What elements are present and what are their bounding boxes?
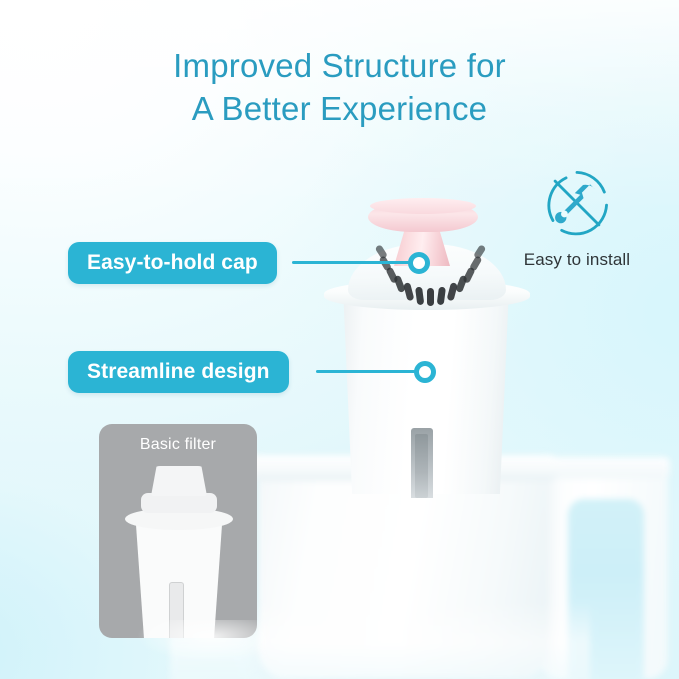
callout-badge-streamline-design[interactable]: Streamline design: [68, 351, 289, 393]
no-tools-wrench-icon: [542, 168, 612, 238]
basic-filter-cap: [151, 466, 207, 496]
basic-filter-collar: [141, 493, 217, 513]
feature-label: Easy to install: [506, 250, 648, 270]
vent-slot: [427, 288, 434, 306]
callout-badge-easy-to-hold-cap[interactable]: Easy-to-hold cap: [68, 242, 277, 284]
callout-leader-line-cap: [292, 261, 414, 264]
inset-bottom-glow: [112, 620, 312, 676]
inset-title: Basic filter: [99, 436, 257, 454]
pitcher-rim-right: [540, 457, 670, 479]
infographic-canvas: Improved Structure for A Better Experien…: [0, 0, 679, 679]
page-title: Improved Structure for A Better Experien…: [0, 44, 679, 130]
callout-label: Streamline design: [87, 360, 270, 384]
vent-slot: [473, 244, 487, 260]
callout-label: Easy-to-hold cap: [87, 251, 258, 275]
basic-filter-graphic: [121, 466, 237, 638]
feature-easy-to-install: Easy to install: [506, 168, 648, 270]
callout-marker-cap: [408, 252, 430, 274]
title-line-2: A Better Experience: [0, 87, 679, 130]
cartridge-slot-inner: [415, 434, 428, 498]
callout-marker-streamline: [414, 361, 436, 383]
basic-filter-inset-panel: Basic filter: [99, 424, 257, 638]
pink-cap-top-disc: [370, 198, 476, 214]
callout-leader-line-streamline: [316, 370, 420, 373]
title-line-1: Improved Structure for: [0, 44, 679, 87]
